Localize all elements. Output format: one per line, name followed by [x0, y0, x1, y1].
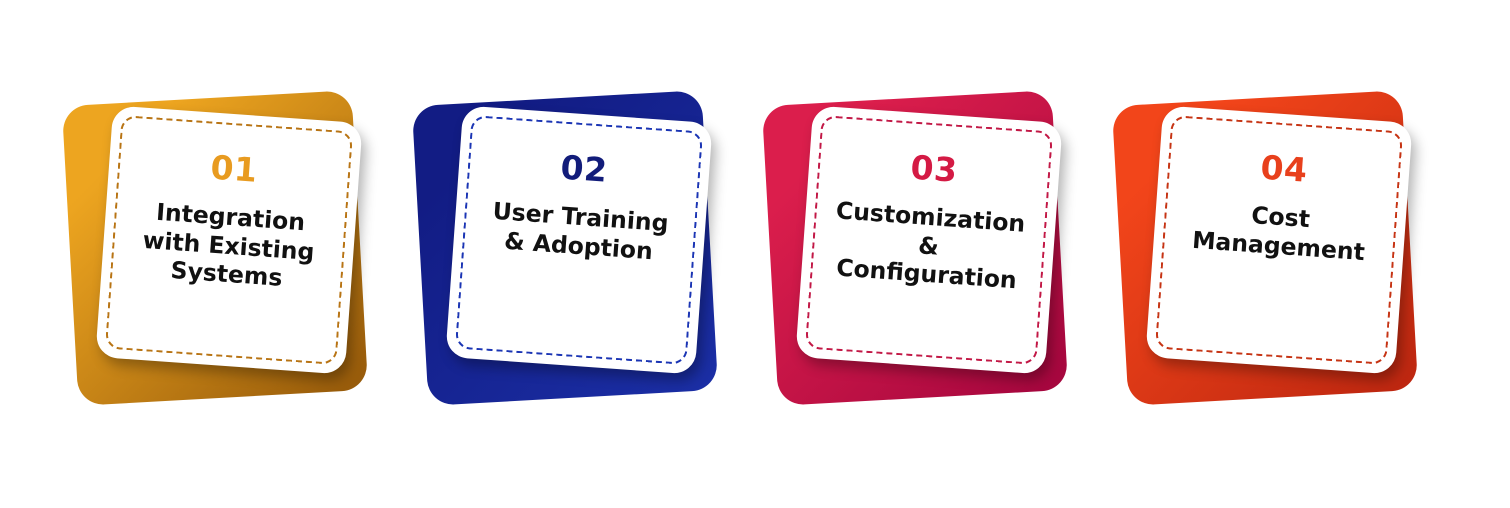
card-content-04: 04 Cost Management	[1145, 105, 1412, 374]
step-card-03[interactable]: 03 Customization & Configuration	[758, 0, 1108, 508]
step-card-02[interactable]: 02 User Training & Adoption	[408, 0, 758, 508]
card-content-01: 01 Integration with Existing Systems	[95, 105, 362, 374]
card-front-02[interactable]: 02 User Training & Adoption	[445, 105, 712, 374]
card-front-01[interactable]: 01 Integration with Existing Systems	[95, 105, 362, 374]
card-number-01: 01	[210, 151, 259, 187]
card-title-03: Customization & Configuration	[831, 196, 1026, 295]
card-front-03[interactable]: 03 Customization & Configuration	[795, 105, 1062, 374]
card-number-04: 04	[1260, 151, 1309, 187]
card-front-04[interactable]: 04 Cost Management	[1145, 105, 1412, 374]
card-number-02: 02	[560, 151, 609, 187]
card-content-02: 02 User Training & Adoption	[445, 105, 712, 374]
cards-row: 01 Integration with Existing Systems 02 …	[0, 0, 1510, 508]
infographic-canvas: 01 Integration with Existing Systems 02 …	[0, 0, 1510, 508]
card-content-03: 03 Customization & Configuration	[795, 105, 1062, 374]
step-card-01[interactable]: 01 Integration with Existing Systems	[58, 0, 408, 508]
card-title-04: Cost Management	[1191, 197, 1368, 267]
step-card-04[interactable]: 04 Cost Management	[1108, 0, 1458, 508]
card-number-03: 03	[910, 151, 959, 187]
card-title-01: Integration with Existing Systems	[140, 197, 318, 295]
card-title-02: User Training & Adoption	[490, 197, 670, 268]
